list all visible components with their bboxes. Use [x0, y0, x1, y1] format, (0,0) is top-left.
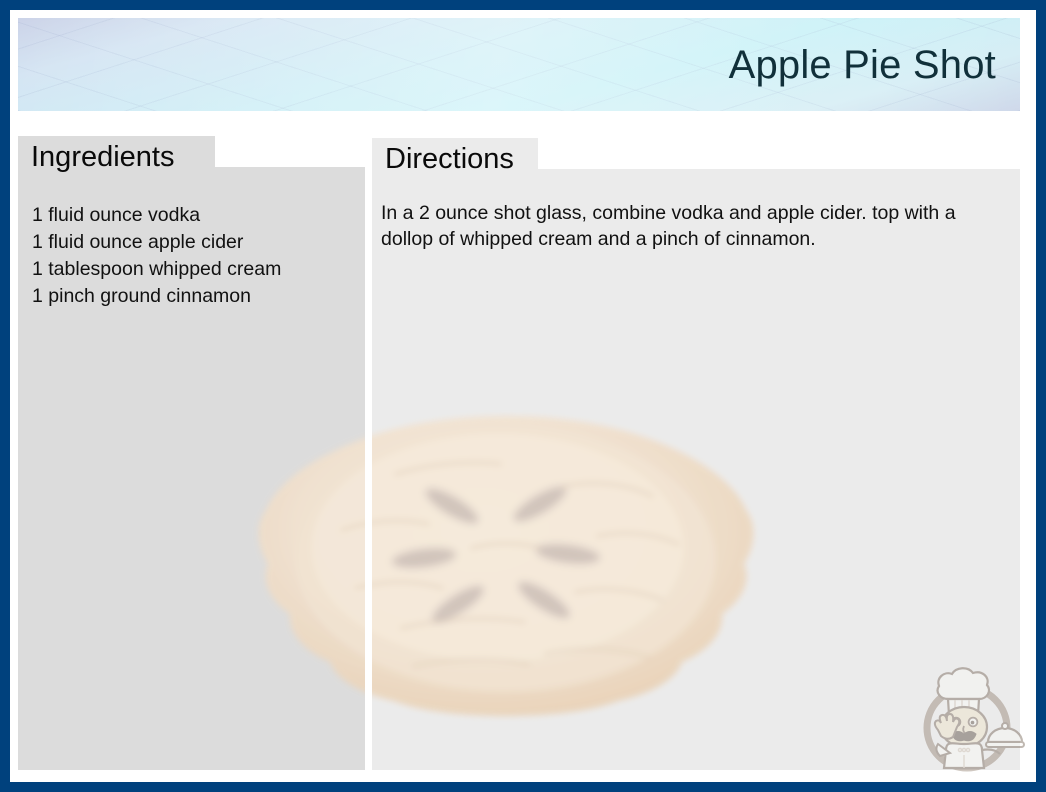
list-item: 1 fluid ounce apple cider: [32, 229, 358, 256]
directions-heading-tab: Directions: [372, 138, 538, 181]
header-banner: Apple Pie Shot: [18, 18, 1020, 111]
ingredients-heading-tab: Ingredients: [18, 136, 215, 179]
list-item: 1 tablespoon whipped cream: [32, 256, 358, 283]
ingredients-heading-label: Ingredients: [31, 141, 175, 174]
recipe-card-page: Apple Pie Shot: [0, 0, 1046, 792]
list-item: 1 fluid ounce vodka: [32, 202, 358, 229]
panel-gutter: [365, 167, 372, 770]
directions-body-text: In a 2 ounce shot glass, combine vodka a…: [372, 200, 1020, 252]
page-title: Apple Pie Shot: [729, 44, 996, 86]
ingredients-list: 1 fluid ounce vodka 1 fluid ounce apple …: [18, 202, 358, 310]
list-item: 1 pinch ground cinnamon: [32, 283, 358, 310]
card-canvas: Apple Pie Shot: [10, 10, 1036, 782]
directions-panel: [372, 169, 1020, 770]
directions-heading-label: Directions: [385, 143, 514, 176]
